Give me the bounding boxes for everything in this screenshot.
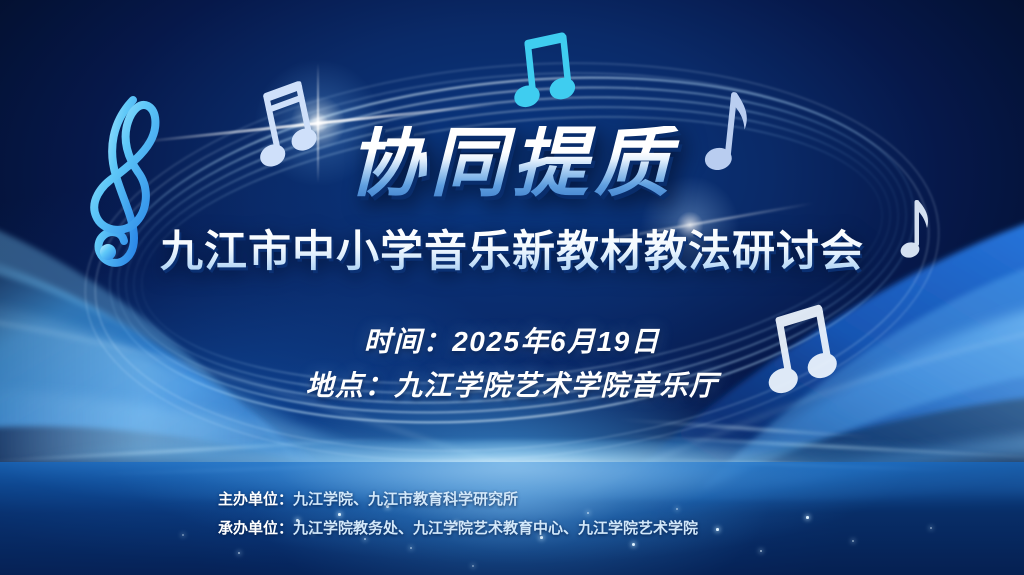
poster-canvas: 协同提质 九江市中小学音乐新教材教法研讨会 时间：2025年6月19日 地点：九…	[0, 0, 1024, 575]
page-title: 协同提质	[0, 126, 1024, 202]
poster-footer: 主办单位：九江学院、九江市教育科学研究所 承办单位：九江学院教务处、九江学院艺术…	[218, 485, 698, 544]
organizer-row: 主办单位：九江学院、九江市教育科学研究所	[218, 485, 698, 514]
event-place: 地点：九江学院艺术学院音乐厅	[0, 364, 1024, 408]
organizer-label: 主办单位：	[218, 491, 293, 508]
event-meta: 时间：2025年6月19日 地点：九江学院艺术学院音乐厅	[0, 320, 1024, 408]
host-value: 九江学院教务处、九江学院艺术教育中心、九江学院艺术学院	[293, 520, 698, 537]
host-label: 承办单位：	[218, 520, 293, 537]
page-subtitle: 九江市中小学音乐新教材教法研讨会	[0, 228, 1024, 277]
event-time: 时间：2025年6月19日	[0, 320, 1024, 364]
organizer-value: 九江学院、九江市教育科学研究所	[293, 491, 518, 508]
host-row: 承办单位：九江学院教务处、九江学院艺术教育中心、九江学院艺术学院	[218, 514, 698, 543]
poster-content: 协同提质 九江市中小学音乐新教材教法研讨会 时间：2025年6月19日 地点：九…	[0, 0, 1024, 575]
